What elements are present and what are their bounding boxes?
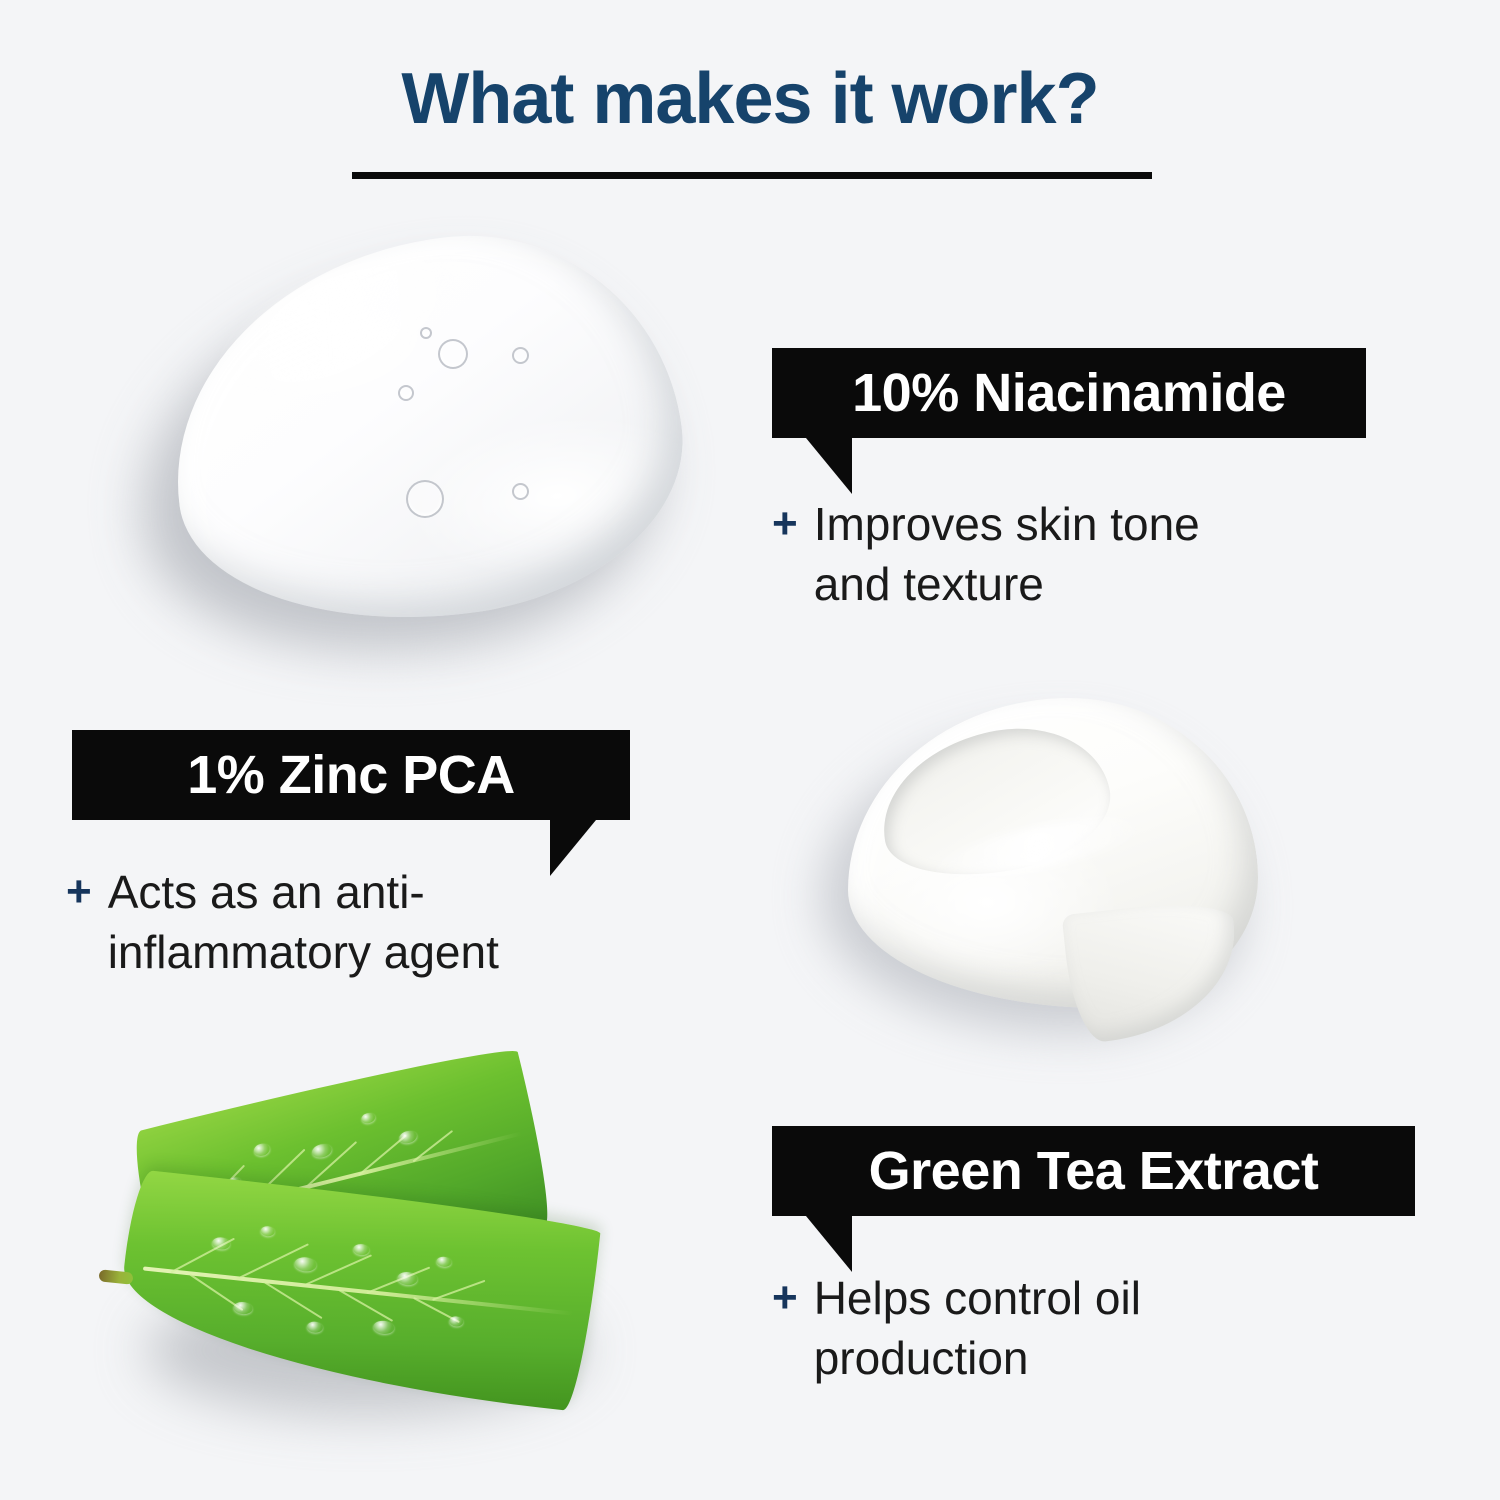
air-bubble-icon — [420, 327, 432, 339]
ingredient-tag-zinc-pca: 1% Zinc PCA — [72, 730, 630, 820]
plus-icon: + — [772, 494, 798, 554]
benefit-zinc-pca: + Acts as an anti- inflammatory agent — [66, 862, 626, 982]
water-droplet-icon — [260, 1225, 275, 1236]
header: What makes it work? — [0, 62, 1500, 138]
water-droplet-icon — [352, 1243, 369, 1256]
air-bubble-icon — [398, 385, 414, 401]
plus-icon: + — [772, 1268, 798, 1328]
green-tea-leaves-image — [95, 1075, 675, 1465]
benefit-text: Acts as an anti- inflammatory agent — [108, 862, 499, 982]
air-bubble-icon — [438, 339, 468, 369]
benefit-green-tea-extract: + Helps control oil production — [772, 1268, 1332, 1388]
water-droplet-icon — [233, 1301, 253, 1315]
water-droplet-icon — [360, 1112, 376, 1125]
benefit-niacinamide: + Improves skin tone and texture — [772, 494, 1332, 614]
leaf-midrib — [143, 1266, 573, 1315]
ingredient-tag-label: 10% Niacinamide — [852, 363, 1286, 423]
air-bubble-icon — [406, 480, 444, 518]
leaf-vein — [432, 1279, 485, 1300]
water-droplet-icon — [398, 1129, 418, 1145]
serum-droplet-image — [120, 235, 700, 665]
leaf-stem — [98, 1269, 133, 1284]
plus-icon: + — [66, 862, 92, 922]
ingredient-tag-label: 1% Zinc PCA — [187, 745, 515, 805]
page-title: What makes it work? — [0, 62, 1500, 138]
water-droplet-icon — [294, 1256, 317, 1272]
tag-tail-icon — [806, 1216, 852, 1272]
infographic-page: What makes it work? 10% Niacinamide + Im… — [0, 0, 1500, 1500]
water-droplet-icon — [449, 1316, 464, 1327]
ingredient-tag-green-tea-extract: Green Tea Extract — [772, 1126, 1415, 1216]
water-droplet-icon — [396, 1271, 417, 1286]
air-bubble-icon — [512, 347, 529, 364]
title-underline-rule — [352, 172, 1152, 179]
cream-swatch-image — [800, 680, 1300, 1080]
water-droplet-icon — [253, 1142, 271, 1158]
water-droplet-icon — [311, 1142, 334, 1159]
benefit-text: Helps control oil production — [814, 1268, 1141, 1388]
water-droplet-icon — [436, 1256, 452, 1268]
cream-swatch-tail — [1062, 897, 1245, 1044]
benefit-text: Improves skin tone and texture — [814, 494, 1200, 614]
ingredient-tag-label: Green Tea Extract — [869, 1141, 1319, 1201]
water-droplet-icon — [306, 1320, 323, 1333]
air-bubble-icon — [512, 483, 529, 500]
ingredient-tag-niacinamide: 10% Niacinamide — [772, 348, 1366, 438]
tag-tail-icon — [806, 438, 852, 494]
